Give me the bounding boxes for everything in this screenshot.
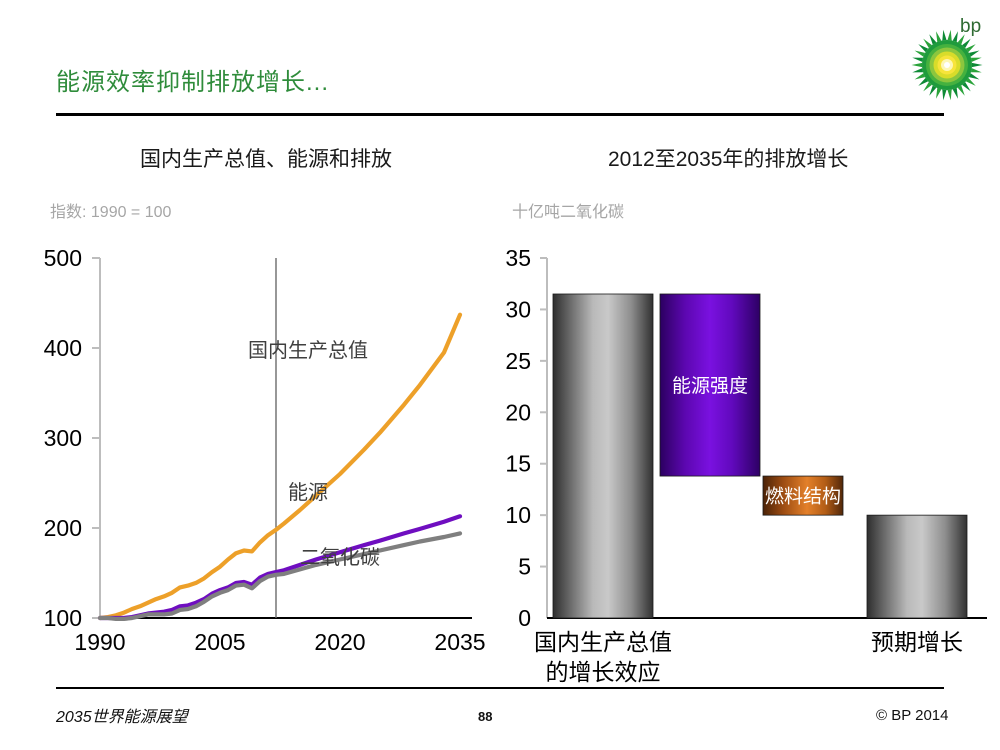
left-chart-title: 国内生产总值、能源和排放	[140, 143, 392, 173]
helios-ray	[947, 30, 951, 41]
waterfall-chart-emissions-growth: 05101520253035能源强度燃料结构国内生产总值的增长效应预期增长	[495, 236, 1000, 676]
helios-ray	[915, 73, 926, 79]
helios-ray	[912, 63, 923, 67]
helios-sunburst	[912, 30, 983, 101]
bp-helios-logo: bp	[900, 8, 992, 100]
y-tick-label: 400	[44, 335, 82, 361]
helios-ray	[969, 51, 980, 57]
helios-ray	[915, 51, 926, 57]
header-divider	[56, 113, 944, 116]
y-tick-label: 300	[44, 425, 82, 451]
helios-ray	[953, 31, 958, 42]
bar-inside-label: 燃料结构	[765, 486, 841, 508]
footer-divider	[56, 687, 944, 689]
x-tick-label: 2020	[314, 629, 365, 655]
helios-ray	[953, 88, 958, 99]
footer-copyright: © BP 2014	[876, 707, 949, 724]
x-tick-label: 2035	[434, 629, 485, 655]
page-number: 88	[478, 709, 492, 724]
helios-ray	[971, 68, 982, 72]
y-tick-label: 5	[518, 554, 531, 580]
right-chart-title: 2012至2035年的排放增长	[608, 143, 848, 173]
helios-ray	[969, 73, 980, 79]
y-tick-label: 20	[505, 399, 531, 425]
x-category-label-line2: 的增长效应	[546, 659, 661, 685]
line-series-二氧化碳	[100, 533, 460, 619]
y-tick-label: 200	[44, 515, 82, 541]
y-tick-label: 100	[44, 605, 82, 631]
helios-ray	[972, 63, 983, 67]
helios-ray	[936, 31, 941, 42]
right-chart-subtitle: 十亿吨二氧化碳	[512, 198, 624, 222]
bar-segment-3[interactable]	[867, 515, 967, 618]
helios-ray	[971, 58, 982, 62]
line-series-能源	[100, 516, 460, 618]
y-tick-label: 30	[505, 296, 531, 322]
left-chart-subtitle: 指数: 1990 = 100	[50, 198, 171, 222]
line-chart-gdp-energy-emissions: 1002003004005001990200520202035国内生产总值能源二…	[0, 236, 500, 676]
footer-source-label: 2035世界能源展望	[56, 703, 188, 727]
x-category-label: 预期增长	[871, 629, 963, 655]
helios-ray	[912, 58, 923, 62]
helios-ray	[936, 88, 941, 99]
series-annotation: 国内生产总值	[248, 339, 368, 362]
page-title: 能源效率抑制排放增长...	[56, 62, 329, 97]
bp-wordmark-text: bp	[960, 16, 981, 37]
y-tick-label: 25	[505, 348, 531, 374]
y-tick-label: 15	[505, 451, 531, 477]
series-annotation: 能源	[288, 481, 328, 504]
helios-ray	[947, 90, 951, 101]
y-tick-label: 10	[505, 502, 531, 528]
slide: 能源效率抑制排放增长... bp 国内生产总值、能源和排放 指数: 1990 =…	[0, 0, 1000, 750]
x-tick-label: 2005	[194, 629, 245, 655]
y-tick-label: 35	[505, 245, 531, 271]
helios-ray	[912, 68, 923, 72]
bar-inside-label: 能源强度	[672, 375, 748, 397]
helios-ray	[942, 90, 946, 101]
series-annotation: 二氧化碳	[300, 546, 380, 569]
y-tick-label: 0	[518, 605, 531, 631]
y-tick-label: 500	[44, 245, 82, 271]
bar-segment-0[interactable]	[553, 294, 653, 618]
x-tick-label: 1990	[74, 629, 125, 655]
helios-ray	[942, 30, 946, 41]
x-category-label: 国内生产总值	[534, 629, 672, 655]
